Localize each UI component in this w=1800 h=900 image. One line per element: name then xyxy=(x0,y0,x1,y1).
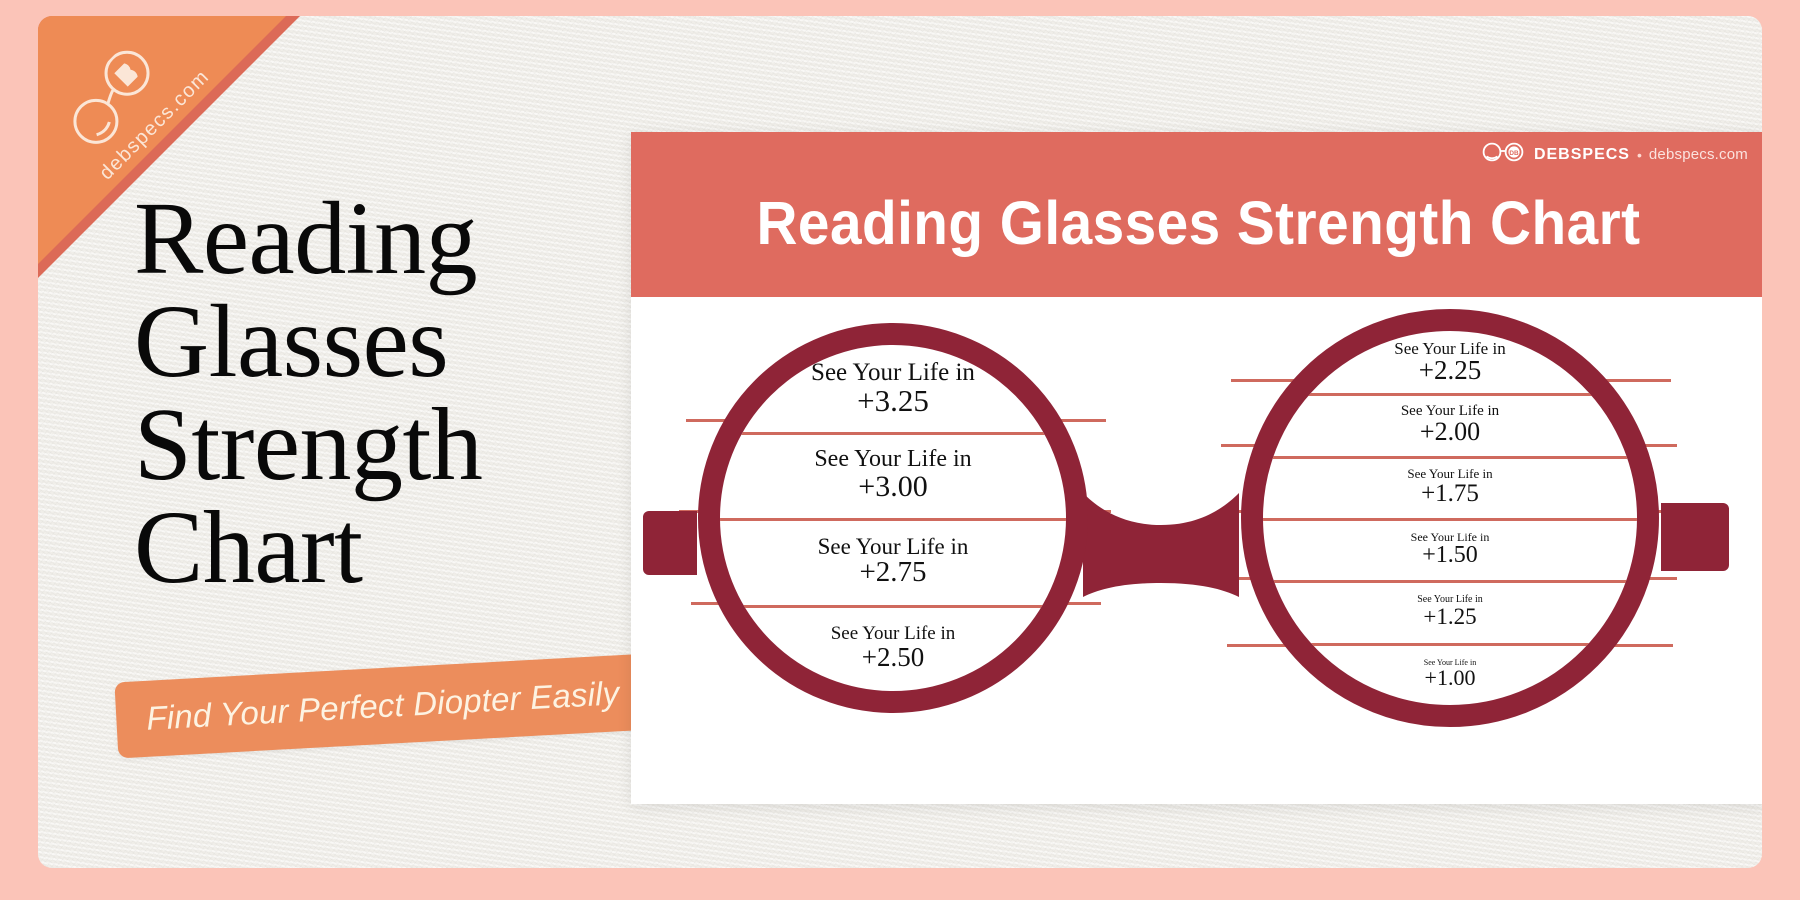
diopter-value: +3.25 xyxy=(857,385,929,417)
diopter-row: See Your Life in +1.00 xyxy=(1263,643,1637,705)
diopter-value: +2.25 xyxy=(1419,357,1481,385)
diopter-row: See Your Life in +1.50 xyxy=(1263,518,1637,580)
diopter-row: See Your Life in +2.75 xyxy=(720,518,1066,605)
corner-ribbon xyxy=(38,16,286,264)
diopter-value: +1.00 xyxy=(1425,667,1476,689)
diopter-caption: See Your Life in xyxy=(831,624,956,643)
diopter-value: +1.50 xyxy=(1422,543,1478,567)
diopter-row: See Your Life in +1.25 xyxy=(1263,580,1637,642)
diopter-row: See Your Life in +3.25 xyxy=(720,345,1066,432)
diopter-value: +1.75 xyxy=(1421,481,1479,507)
header-brand-separator: • xyxy=(1637,147,1642,163)
diopter-value: +2.75 xyxy=(859,558,926,588)
lens-left: See Your Life in +3.25 See Your Life in … xyxy=(698,323,1088,713)
diopter-row: See Your Life in +2.50 xyxy=(720,605,1066,692)
header-brand-name: DEBSPECS xyxy=(1534,146,1630,164)
svg-text:DB: DB xyxy=(1509,150,1519,157)
bridge xyxy=(1083,493,1239,597)
diopter-row: See Your Life in +2.25 xyxy=(1263,331,1637,393)
header-brand: DB DEBSPECS • debspecs.com xyxy=(1481,142,1748,167)
diopter-value: +2.50 xyxy=(862,644,924,672)
diopter-row: See Your Life in +3.00 xyxy=(720,432,1066,519)
header-brand-url: debspecs.com xyxy=(1649,146,1748,163)
diopter-caption: See Your Life in xyxy=(814,447,971,471)
headline-line-3: Strength xyxy=(134,394,654,497)
paper-panel: debspecs.com Reading Glasses Strength Ch… xyxy=(38,16,1762,868)
card-title: Reading Glasses Strength Chart xyxy=(671,188,1727,258)
tagline-text: Find Your Perfect Diopter Easily xyxy=(115,674,620,739)
glasses-db-icon: DB xyxy=(1481,142,1527,167)
card-header: DB DEBSPECS • debspecs.com Reading Glass… xyxy=(631,132,1762,297)
headline-line-2: Glasses xyxy=(134,291,654,394)
diopter-caption: See Your Life in xyxy=(1407,467,1492,480)
diopter-value: +3.00 xyxy=(858,472,927,503)
left-temple xyxy=(643,511,697,575)
right-temple xyxy=(1661,503,1729,571)
card-body: See Your Life in +3.25 See Your Life in … xyxy=(631,297,1762,804)
diopter-caption: See Your Life in xyxy=(818,535,969,558)
diopter-row: See Your Life in +2.00 xyxy=(1263,393,1637,455)
poster-canvas: debspecs.com Reading Glasses Strength Ch… xyxy=(0,0,1800,900)
lens-right: See Your Life in +2.25 See Your Life in … xyxy=(1241,309,1659,727)
chart-card: DB DEBSPECS • debspecs.com Reading Glass… xyxy=(631,132,1762,804)
diopter-row: See Your Life in +1.75 xyxy=(1263,456,1637,518)
diopter-caption: See Your Life in xyxy=(811,360,975,386)
diopter-value: +1.25 xyxy=(1423,605,1476,628)
headline-line-4: Chart xyxy=(134,497,654,600)
diopter-value: +2.00 xyxy=(1420,419,1480,446)
